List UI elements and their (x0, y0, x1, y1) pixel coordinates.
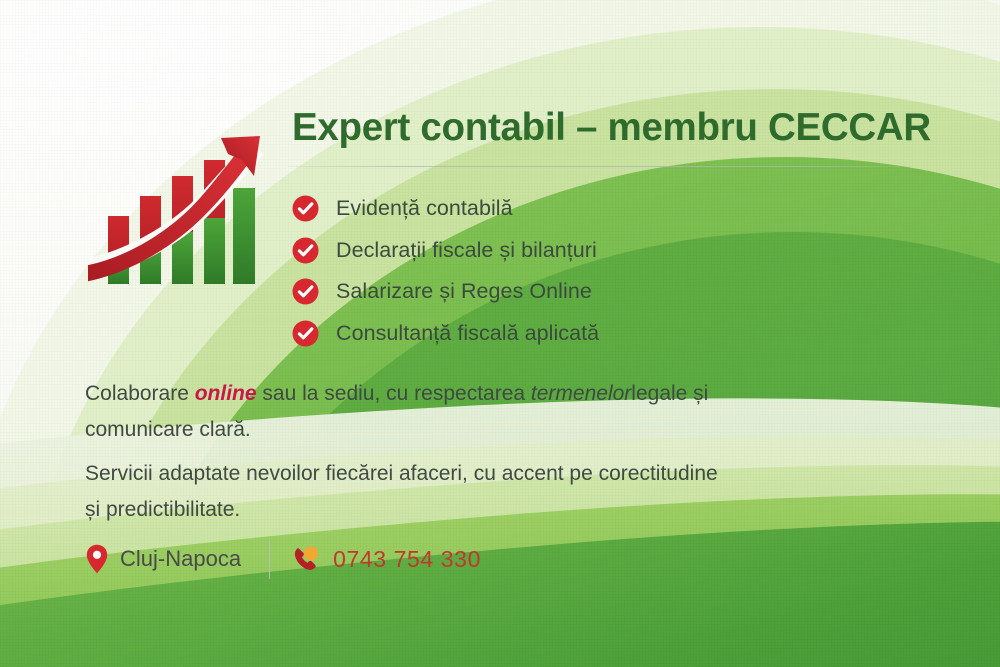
check-circle-icon (292, 195, 319, 222)
location-group[interactable]: Cluj-Napoca (86, 544, 241, 574)
list-item-label: Evidență contabilă (336, 196, 513, 221)
list-item: Evidență contabilă (292, 188, 872, 230)
list-item-label: Consultanță fiscală aplicată (336, 321, 599, 346)
paragraph-collaboration: Colaborare online sau la sediu, cu respe… (85, 376, 820, 448)
paragraph-lead: Colaborare (85, 382, 195, 405)
poster-content: Expert contabil – membru CECCAR (0, 0, 1000, 667)
phone-group[interactable]: 0743 754 330 (292, 545, 481, 573)
paragraph-services: Servicii adaptate nevoilor fiecărei afac… (85, 456, 725, 528)
check-circle-icon (292, 237, 319, 264)
list-item: Declarații fiscale și bilanțuri (292, 230, 872, 272)
list-item-label: Declarații fiscale și bilanțuri (336, 238, 597, 263)
map-pin-icon (86, 544, 108, 574)
emphasis-online: online (195, 382, 257, 405)
contact-row: Cluj-Napoca 0743 754 330 (86, 537, 481, 581)
list-item: Salarizare și Reges Online (292, 271, 872, 313)
title-divider (288, 166, 918, 167)
growth-bar-chart-logo (88, 132, 268, 312)
page-title: Expert contabil – membru CECCAR (292, 106, 931, 150)
contact-divider (269, 539, 270, 579)
check-circle-icon (292, 320, 319, 347)
contact-city-label: Cluj-Napoca (120, 546, 241, 572)
poster-canvas: Expert contabil – membru CECCAR (0, 0, 1000, 667)
phone-icon (292, 545, 320, 573)
list-item: Consultanță fiscală aplicată (292, 313, 872, 355)
paragraph-mid: sau la sediu, cu respectarea (257, 382, 531, 405)
emphasis-termenelor: termenelor (531, 382, 631, 405)
list-item-label: Salarizare și Reges Online (336, 279, 592, 304)
contact-phone-number[interactable]: 0743 754 330 (333, 546, 481, 573)
check-circle-icon (292, 278, 319, 305)
services-list: Evidență contabilă Declarații fiscale și… (292, 188, 872, 354)
